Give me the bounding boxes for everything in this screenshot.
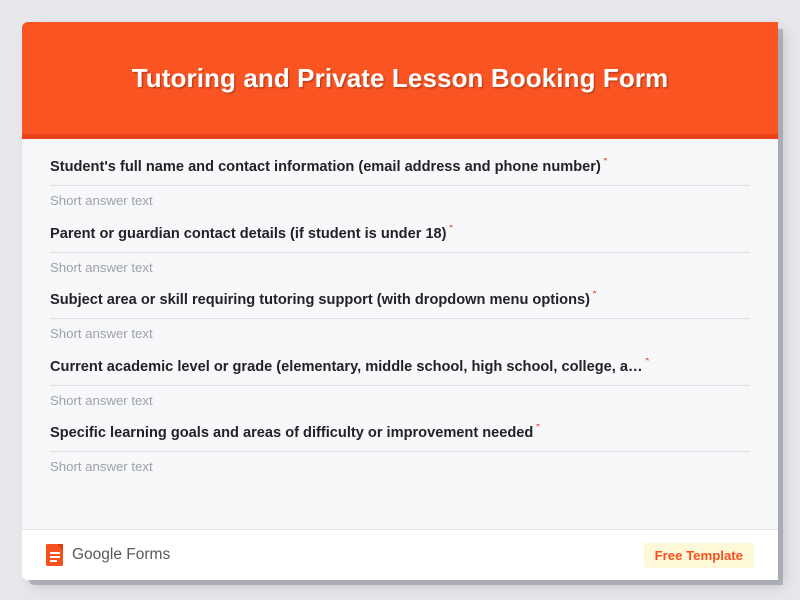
question-label-text: Student's full name and contact informat… bbox=[50, 159, 601, 175]
question-label-text: Subject area or skill requiring tutoring… bbox=[50, 292, 590, 308]
answer-placeholder[interactable]: Short answer text bbox=[50, 186, 750, 209]
page-title: Tutoring and Private Lesson Booking Form bbox=[108, 63, 693, 94]
question-label: Parent or guardian contact details (if s… bbox=[50, 225, 750, 252]
question-label-text: Current academic level or grade (element… bbox=[50, 359, 643, 375]
question-item[interactable]: Subject area or skill requiring tutoring… bbox=[22, 291, 778, 342]
required-marker: * bbox=[603, 158, 608, 168]
google-forms-icon bbox=[46, 544, 63, 566]
question-item[interactable]: Current academic level or grade (element… bbox=[22, 358, 778, 409]
question-label-text: Parent or guardian contact details (if s… bbox=[50, 226, 447, 242]
required-marker: * bbox=[535, 424, 540, 434]
question-label: Specific learning goals and areas of dif… bbox=[50, 424, 750, 451]
form-questions-list: Student's full name and contact informat… bbox=[22, 139, 778, 530]
google-forms-label: Google Forms bbox=[72, 546, 170, 564]
required-marker: * bbox=[592, 291, 597, 301]
answer-placeholder[interactable]: Short answer text bbox=[50, 253, 750, 276]
required-marker: * bbox=[449, 225, 454, 235]
answer-placeholder[interactable]: Short answer text bbox=[50, 319, 750, 342]
required-marker: * bbox=[645, 358, 650, 368]
answer-placeholder[interactable]: Short answer text bbox=[50, 452, 750, 475]
form-header: Tutoring and Private Lesson Booking Form bbox=[22, 22, 778, 139]
form-card: Tutoring and Private Lesson Booking Form… bbox=[22, 22, 778, 580]
question-item[interactable]: Specific learning goals and areas of dif… bbox=[22, 424, 778, 475]
answer-placeholder[interactable]: Short answer text bbox=[50, 386, 750, 409]
question-label-text: Specific learning goals and areas of dif… bbox=[50, 425, 533, 441]
question-label: Subject area or skill requiring tutoring… bbox=[50, 291, 750, 318]
question-item[interactable]: Student's full name and contact informat… bbox=[22, 158, 778, 209]
question-item[interactable]: Parent or guardian contact details (if s… bbox=[22, 225, 778, 276]
question-label: Student's full name and contact informat… bbox=[50, 158, 750, 185]
free-template-badge[interactable]: Free Template bbox=[644, 543, 754, 568]
form-footer: Google Forms Free Template bbox=[22, 530, 778, 580]
question-label: Current academic level or grade (element… bbox=[50, 358, 750, 385]
google-forms-brand[interactable]: Google Forms bbox=[46, 544, 170, 566]
